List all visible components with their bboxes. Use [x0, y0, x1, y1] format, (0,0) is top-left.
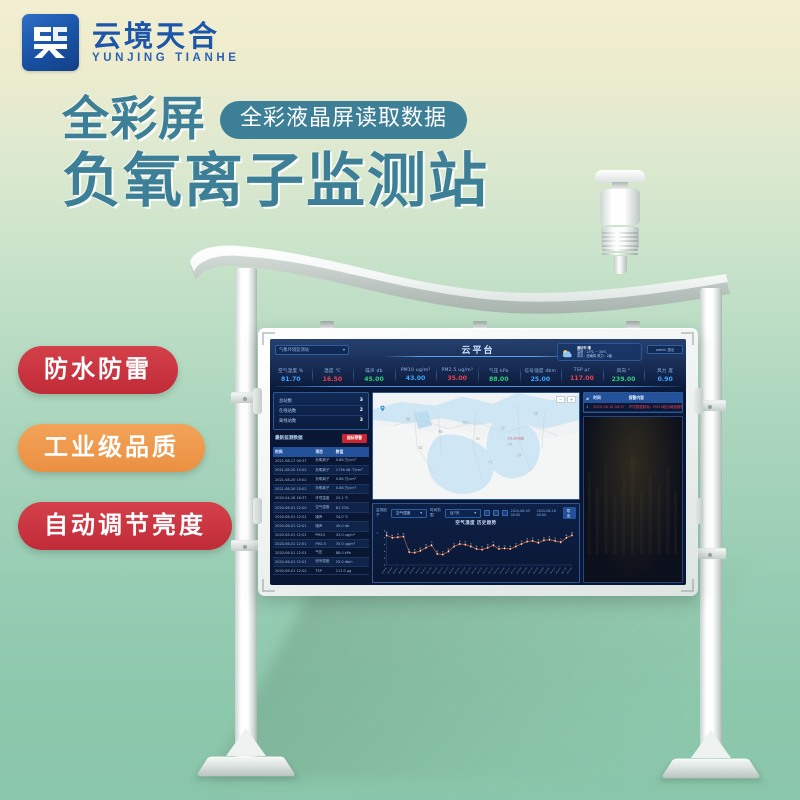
- enclosure-hook-left: [320, 321, 334, 328]
- svg-text:06-13 00: 06-13 00: [472, 567, 477, 575]
- table-cell: 2020-06-01 12:01: [273, 557, 313, 566]
- svg-text:06-12 18: 06-12 18: [466, 567, 471, 575]
- sensor-stem: [614, 256, 627, 274]
- table-cell: 43.0 ug/m³: [334, 531, 369, 539]
- enclosure-hinge-right-upper: [694, 388, 703, 414]
- enclosure-hinge-right-lower: [694, 498, 703, 524]
- svg-text:84: 84: [391, 535, 393, 537]
- table-cell: 25.0 dbm: [334, 557, 369, 566]
- metric-value: 239.00: [603, 376, 645, 383]
- svg-text:77: 77: [560, 539, 562, 541]
- table-cell: 2020-06-01 12:00: [273, 503, 313, 512]
- svg-text:06-14 18: 06-14 18: [511, 567, 516, 575]
- svg-text:06-11 06: 06-11 06: [432, 567, 437, 575]
- svg-text:印度: 印度: [418, 445, 423, 449]
- table-cell: PM10: [313, 531, 333, 539]
- chart-view-line-button[interactable]: [484, 510, 490, 516]
- alarm-col-index: #: [584, 393, 591, 403]
- table-cell: 2021-08-20 15:02: [273, 475, 313, 484]
- svg-text:70: 70: [515, 543, 517, 545]
- table-row[interactable]: 2020-06-01 12:02TSP117.0 μg: [273, 567, 369, 575]
- pole-collar-right-lower: [696, 548, 726, 559]
- svg-text:06-13 06: 06-13 06: [477, 567, 482, 575]
- svg-text:06-09 00: 06-09 00: [382, 567, 387, 575]
- metric-value: 81.70: [270, 376, 312, 383]
- history-table-body: 2021-08-17 09:37负氧离子0.86 万/cm³2021-08-20…: [273, 457, 369, 575]
- stat-row: 在线站数 2: [279, 406, 363, 416]
- cloud-sun-icon: [561, 346, 574, 359]
- trend-line-chart: %888485866160636872585762707473706665687…: [376, 527, 576, 579]
- chart-range-value: 近7天: [450, 511, 459, 516]
- table-cell: 2020-06-01 12:01: [273, 548, 313, 557]
- stat-value: 3: [360, 398, 363, 403]
- svg-text:85: 85: [397, 534, 399, 536]
- svg-text:66: 66: [509, 546, 511, 548]
- svg-text:60: 60: [414, 549, 416, 551]
- chart-date-from[interactable]: 2020-06-09 00:00: [511, 509, 534, 517]
- history-panel-title: 最新监测数据: [275, 435, 303, 441]
- table-cell: 2020-06-16 08:37: [591, 403, 627, 412]
- metric-label: 风力 度: [644, 368, 686, 374]
- alarm-col-time: 时间: [591, 393, 627, 403]
- metric-value: 16.50: [312, 376, 354, 383]
- chart-factor-label: 监测因子: [376, 508, 388, 518]
- metric-strip: 空气湿度 % 81.70 温度 ℃ 16.50 噪声 db 45.00 PM10…: [270, 363, 686, 387]
- svg-text:06-09 12: 06-09 12: [393, 567, 398, 575]
- svg-text:67: 67: [504, 545, 506, 547]
- svg-text:06-10 00: 06-10 00: [404, 567, 409, 575]
- metric-wind-direction: 风向 ° 239.00: [603, 363, 645, 387]
- svg-text:06-16 18: 06-16 18: [556, 567, 561, 575]
- dashboard-title-rule: [382, 356, 573, 357]
- map-location-pin-icon: [379, 397, 386, 404]
- table-cell: 环境温度: [313, 494, 333, 503]
- enclosure-hook-right: [626, 321, 640, 328]
- history-table: 时间 项目 数值 2021-08-17 09:37负氧离子0.86 万/cm³2…: [273, 447, 369, 576]
- svg-text:65: 65: [481, 546, 483, 548]
- svg-text:73: 73: [464, 541, 466, 543]
- svg-text:06-14 12: 06-14 12: [505, 567, 510, 575]
- chart-title: 空气湿度 历史趋势: [376, 520, 576, 526]
- svg-text:74: 74: [459, 541, 461, 543]
- metric-value: 45.00: [353, 376, 395, 383]
- metric-value: 0.90: [644, 376, 686, 383]
- map-zoom-out-button[interactable]: −: [556, 396, 565, 403]
- svg-text:06-09 06: 06-09 06: [387, 567, 392, 575]
- table-cell: 空气湿度: [313, 503, 333, 512]
- table-cell: 2020-06-01 12:02: [273, 567, 313, 575]
- svg-text:06-15 12: 06-15 12: [528, 567, 533, 575]
- sensor-radiation-shield: [602, 232, 638, 258]
- metric-label: 温度 ℃: [312, 368, 354, 374]
- svg-text:68: 68: [487, 545, 489, 547]
- table-cell: 负氧离子: [313, 484, 333, 493]
- table-cell: 1736.48 个/cm³: [334, 465, 369, 474]
- table-cell: 81.70%: [334, 503, 369, 512]
- svg-text:06-13 18: 06-13 18: [488, 567, 493, 575]
- svg-text:06-12 12: 06-12 12: [460, 567, 465, 575]
- metric-label: 信号强度 dbm: [520, 368, 562, 374]
- svg-text:61: 61: [408, 549, 410, 551]
- svg-text:内蒙古: 内蒙古: [462, 420, 469, 424]
- weather-widget: 潍坊市 晴 温度：25℃ ~ 34℃ 风向：西南风 风力：2级: [557, 343, 642, 361]
- svg-text:79: 79: [554, 538, 556, 540]
- map-zoom-controls[interactable]: − +: [556, 396, 576, 403]
- weather-text: 潍坊市 晴 温度：25℃ ~ 34℃ 风向：西南风 风力：2级: [577, 346, 638, 359]
- svg-text:06-11 00: 06-11 00: [427, 567, 432, 575]
- svg-text:79: 79: [532, 538, 534, 540]
- svg-text:76: 76: [537, 540, 539, 542]
- svg-text:70: 70: [470, 543, 472, 545]
- chart-factor-value: 空气湿度: [396, 511, 410, 516]
- history-col-item: 项目: [313, 447, 333, 457]
- camera-feed[interactable]: [583, 416, 683, 583]
- table-cell: 2021-08-20 15:02: [273, 465, 313, 474]
- alarm-table-body: 12020-06-16 08:37环境数据超标：PM10超出阈值报警: [584, 403, 683, 412]
- table-cell: 117.0 μg: [334, 567, 369, 575]
- table-cell: 45.0 db: [334, 522, 369, 531]
- svg-text:58: 58: [436, 551, 438, 553]
- station-map[interactable]: 新疆 西藏 内蒙古 四川 北京 上海 广东 台湾 印度 日本: [372, 392, 580, 500]
- table-cell: 负氧离子: [313, 465, 333, 474]
- metric-label: 气压 kPa: [478, 368, 520, 374]
- table-cell: 2021-08-20 15:02: [273, 484, 313, 493]
- svg-text:四川: 四川: [476, 437, 481, 440]
- table-cell: 0.86 万/cm³: [334, 457, 369, 466]
- stat-row: 总站数 3: [279, 396, 363, 406]
- table-cell: 35.0 ug/m³: [334, 539, 369, 547]
- sensor-body-upper: [600, 189, 640, 225]
- table-cell: 噪声: [313, 512, 333, 521]
- enclosure-hook-center: [473, 321, 487, 328]
- table-cell: 信号强度: [313, 557, 333, 566]
- metric-value: 43.00: [395, 375, 437, 382]
- table-cell: 负氧离子: [313, 475, 333, 484]
- right-panel: # 时间 报警内容 12020-06-16 08:37环境数据超标：PM10超出…: [583, 392, 683, 583]
- metric-pm10: PM10 ug/m³ 43.00: [395, 363, 437, 387]
- svg-text:台湾: 台湾: [517, 453, 522, 457]
- chart-toolbar: 监测因子 空气湿度 ▾ 时间范围 近7天 ▾: [376, 507, 576, 519]
- metric-label: 噪声 db: [353, 368, 395, 374]
- chart-export-button[interactable]: 导出: [563, 507, 576, 519]
- svg-text:%: %: [377, 532, 379, 536]
- svg-text:66: 66: [476, 546, 478, 548]
- table-row[interactable]: 2021-08-20 15:02负氧离子0.86 万/cm³: [273, 475, 369, 484]
- table-row[interactable]: 2020-06-01 12:01信号强度25.0 dbm: [273, 557, 369, 566]
- pole-base-left: [196, 757, 297, 777]
- table-cell: 2020-06-01 12:01: [273, 512, 313, 521]
- status-badge-alarm[interactable]: 超标预警: [342, 434, 367, 443]
- weather-sensor: [592, 170, 648, 270]
- svg-text:06-15 06: 06-15 06: [522, 567, 527, 575]
- chart-date-to[interactable]: 2020-06-16 00:00: [537, 509, 560, 517]
- table-row[interactable]: 2020-06-01 12:01噪声45.0 db: [273, 522, 369, 531]
- metric-wind-force: 风力 度 0.90: [644, 363, 686, 387]
- table-cell: 气压: [313, 548, 333, 557]
- table-row[interactable]: 2020-06-01 12:01噪声34.0 ℃: [273, 512, 369, 521]
- svg-text:06-17 06: 06-17 06: [567, 567, 572, 575]
- chart-view-bar-button[interactable]: [493, 510, 499, 516]
- metric-value: 35.00: [436, 375, 478, 382]
- product-illustration: 气象环境监测站 ▾ 云平台 潍坊市 晴 温度：25℃ ~ 34℃: [0, 0, 800, 800]
- canopy-roof: [178, 228, 738, 343]
- svg-text:北京: 北京: [501, 426, 506, 430]
- table-row[interactable]: 2020-04-18 16:37环境温度25.1 ℃: [273, 494, 369, 503]
- svg-text:06-10 18: 06-10 18: [421, 567, 426, 575]
- table-cell: 34.0 ℃: [334, 512, 369, 521]
- svg-text:日本: 日本: [534, 411, 539, 415]
- center-panel: 新疆 西藏 内蒙古 四川 北京 上海 广东 台湾 印度 日本: [372, 392, 580, 583]
- stat-label: 离线站数: [279, 418, 296, 424]
- svg-text:06-11 12: 06-11 12: [438, 567, 443, 575]
- svg-text:06-16 12: 06-16 12: [550, 567, 555, 575]
- lcd-dashboard: 气象环境监测站 ▾ 云平台 潍坊市 晴 温度：25℃ ~ 34℃: [270, 339, 686, 585]
- map-zoom-in-button[interactable]: +: [567, 396, 576, 403]
- svg-text:06-17 00: 06-17 00: [561, 567, 566, 575]
- table-cell: 0.86 万/cm³: [334, 475, 369, 484]
- user-account-chip[interactable]: admin 退出: [647, 345, 683, 354]
- metric-tsp: TSP μг 117.00: [561, 363, 603, 387]
- metric-pressure: 气压 kPa 88.00: [478, 363, 520, 387]
- metric-value: 25.00: [520, 376, 562, 383]
- svg-text:57: 57: [442, 551, 444, 553]
- table-cell: PM2.5: [313, 539, 333, 547]
- svg-text:06-11 18: 06-11 18: [443, 567, 448, 575]
- table-cell: 2020-06-01 12:01: [273, 531, 313, 539]
- svg-text:72: 72: [431, 542, 433, 544]
- table-cell: 1: [584, 403, 591, 412]
- svg-text:86: 86: [403, 533, 405, 535]
- history-table-header: 时间 项目 数值: [273, 447, 369, 457]
- svg-text:西藏: 西藏: [438, 429, 443, 433]
- left-panel: 总站数 3 在线站数 2 离线站数 3: [273, 392, 369, 583]
- metric-humidity: 空气湿度 % 81.70: [270, 363, 312, 387]
- table-row[interactable]: 2021-08-17 09:37负氧离子0.86 万/cm³: [273, 457, 369, 466]
- svg-text:06-13 12: 06-13 12: [483, 567, 488, 575]
- history-col-value: 数值: [334, 447, 369, 457]
- table-cell: 2020-04-18 16:37: [273, 494, 313, 503]
- stat-row: 离线站数 3: [279, 416, 363, 425]
- metric-noise: 噪声 db 45.00: [353, 363, 395, 387]
- svg-text:66: 66: [498, 546, 500, 548]
- alarm-table-header: # 时间 报警内容: [584, 393, 683, 403]
- svg-text:06-15 00: 06-15 00: [517, 567, 522, 575]
- svg-text:上海: 上海: [508, 442, 513, 446]
- chart-range-label: 时间范围: [430, 508, 442, 518]
- alarm-table: # 时间 报警内容 12020-06-16 08:37环境数据超标：PM10超出…: [584, 393, 683, 412]
- table-cell: 0.86 万/cm³: [334, 484, 369, 493]
- history-panel-header: 最新监测数据 超标预警: [273, 433, 369, 444]
- support-pole-right: [700, 288, 722, 758]
- table-row[interactable]: 2020-06-01 12:01PM1043.0 ug/m³: [273, 531, 369, 539]
- table-row[interactable]: 2020-06-01 12:01PM2.535.0 ug/m³: [273, 539, 369, 547]
- table-cell: 负氧离子: [313, 457, 333, 466]
- enclosure-hinge-left-lower: [253, 498, 262, 524]
- station-stats-box: 总站数 3 在线站数 2 离线站数 3: [273, 392, 369, 430]
- svg-text:80: 80: [543, 537, 545, 539]
- dashboard-body: 总站数 3 在线站数 2 离线站数 3: [270, 389, 686, 585]
- table-cell: 2021-08-17 09:37: [273, 457, 313, 466]
- svg-text:88: 88: [386, 532, 388, 534]
- metric-pm25: PM2.5 ug/m³ 35.00: [436, 363, 478, 387]
- svg-text:06-15 18: 06-15 18: [533, 567, 538, 575]
- svg-text:84: 84: [566, 535, 568, 537]
- weather-city: 潍坊市 晴: [577, 346, 591, 350]
- enclosure-hinge-left-upper: [253, 388, 262, 414]
- svg-text:74: 74: [521, 541, 523, 543]
- stat-value: 2: [360, 408, 363, 413]
- svg-text:63: 63: [420, 548, 422, 550]
- svg-text:70: 70: [453, 543, 455, 545]
- table-cell: 88.0 kPa: [334, 548, 369, 557]
- svg-text:新疆: 新疆: [406, 417, 411, 421]
- table-cell: 噪声: [313, 522, 333, 531]
- stat-value: 3: [360, 418, 363, 423]
- svg-text:06-16 00: 06-16 00: [539, 567, 544, 575]
- svg-text:06-14 06: 06-14 06: [500, 567, 505, 575]
- svg-text:68: 68: [425, 545, 427, 547]
- table-cell: 2020-06-01 12:01: [273, 539, 313, 547]
- table-row[interactable]: 2020-06-01 12:00空气湿度81.70%: [273, 503, 369, 512]
- table-cell: TSP: [313, 567, 333, 575]
- history-col-time: 时间: [273, 447, 313, 457]
- svg-text:88: 88: [571, 532, 573, 534]
- svg-text:06-10 12: 06-10 12: [415, 567, 420, 575]
- chart-factor-select[interactable]: 空气湿度 ▾: [391, 509, 427, 518]
- base-gusset-left: [226, 728, 266, 756]
- chevron-down-icon: ▾: [474, 511, 476, 515]
- svg-text:广东: 广东: [488, 460, 493, 464]
- alarm-col-content: 报警内容: [627, 393, 683, 403]
- metric-label: PM10 ug/m³: [395, 368, 437, 373]
- svg-text:06-10 06: 06-10 06: [410, 567, 415, 575]
- trend-chart-panel: 监测因子 空气湿度 ▾ 时间范围 近7天 ▾: [372, 503, 580, 583]
- chart-view-table-button[interactable]: [502, 510, 508, 516]
- chevron-down-icon: ▾: [420, 511, 422, 515]
- weather-wind: 风向：西南风 风力：2级: [577, 354, 638, 358]
- metric-label: 风向 °: [603, 368, 645, 374]
- metric-label: PM2.5 ug/m³: [436, 368, 478, 373]
- svg-text:06-16 06: 06-16 06: [545, 567, 550, 575]
- metric-signal: 信号强度 dbm 25.00: [520, 363, 562, 387]
- metric-strip-rule: [274, 386, 682, 387]
- svg-text:72: 72: [493, 542, 495, 544]
- pole-collar-left-lower: [231, 540, 261, 551]
- table-row[interactable]: 2020-06-01 12:01气压88.0 kPa: [273, 548, 369, 557]
- stat-label: 在线站数: [279, 408, 296, 414]
- table-row[interactable]: 12020-06-16 08:37环境数据超标：PM10超出阈值报警: [584, 403, 683, 412]
- base-gusset-right: [691, 730, 731, 758]
- table-cell: 环境数据超标：PM10超出阈值报警: [627, 403, 683, 412]
- metric-value: 88.00: [478, 376, 520, 383]
- table-cell: 25.1 ℃: [334, 494, 369, 503]
- product-poster: 云境天合 YUNJING TIANHE 全彩屏 全彩液晶屏读取数据 负氧离子监测…: [0, 0, 800, 800]
- table-row[interactable]: 2021-08-20 15:02负氧离子1736.48 个/cm³: [273, 465, 369, 474]
- metric-label: 空气湿度 %: [270, 368, 312, 374]
- table-row[interactable]: 2021-08-20 15:02负氧离子0.86 万/cm³: [273, 484, 369, 493]
- svg-text:06-12 00: 06-12 00: [449, 567, 454, 575]
- svg-text:78: 78: [526, 538, 528, 540]
- display-enclosure: 气象环境监测站 ▾ 云平台 潍坊市 晴 温度：25℃ ~ 34℃: [258, 328, 698, 596]
- svg-text:06-14 00: 06-14 00: [494, 567, 499, 575]
- svg-text:06-09 18: 06-09 18: [399, 567, 404, 575]
- pole-base-right: [661, 759, 762, 779]
- svg-text:62: 62: [448, 548, 450, 550]
- svg-text:06-12 06: 06-12 06: [455, 567, 460, 575]
- chart-range-select[interactable]: 近7天 ▾: [445, 509, 481, 518]
- svg-text:中华人民共和国: 中华人民共和国: [508, 436, 525, 440]
- stat-label: 总站数: [279, 398, 292, 404]
- metric-temperature: 温度 ℃ 16.50: [312, 363, 354, 387]
- metric-value: 117.00: [561, 375, 603, 382]
- table-cell: 2020-06-01 12:01: [273, 522, 313, 531]
- svg-text:81: 81: [549, 536, 551, 538]
- metric-label: TSP μг: [561, 368, 603, 373]
- alarm-panel: # 时间 报警内容 12020-06-16 08:37环境数据超标：PM10超出…: [583, 392, 683, 413]
